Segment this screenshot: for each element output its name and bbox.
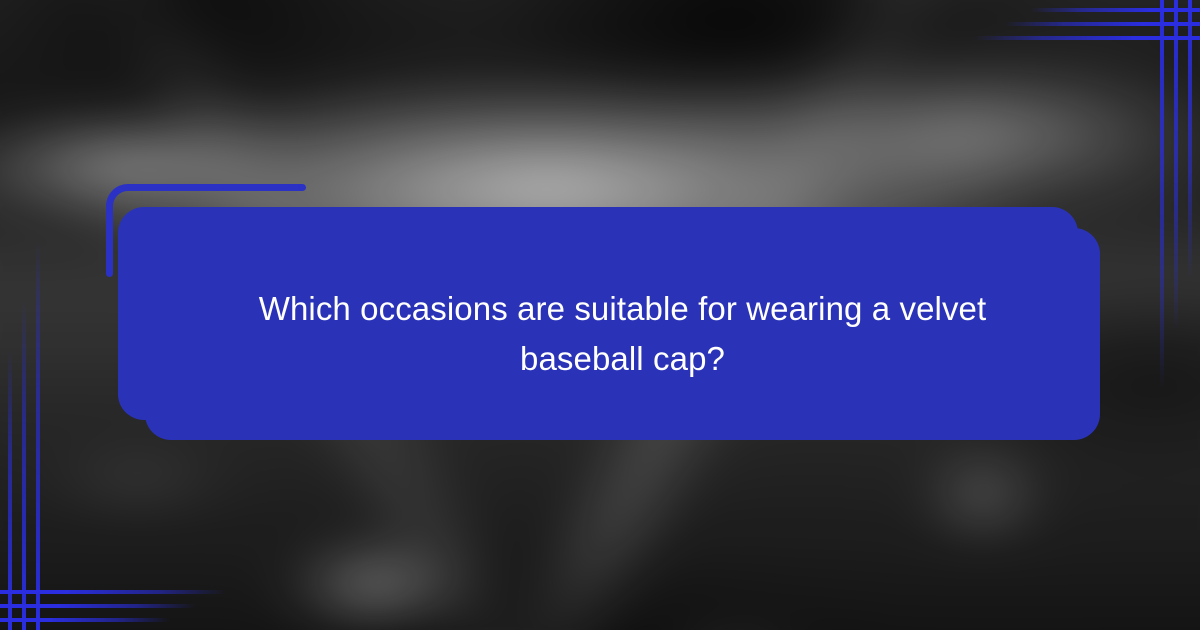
question-text: Which occasions are suitable for wearing… xyxy=(253,284,993,384)
question-card-banner: Which occasions are suitable for wearing… xyxy=(0,0,1200,630)
question-container: Which occasions are suitable for wearing… xyxy=(145,228,1100,440)
